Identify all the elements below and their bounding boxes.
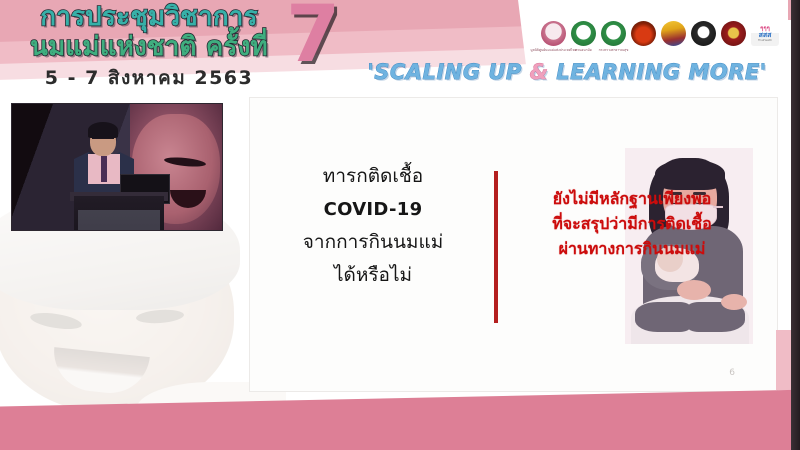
breastfeeding-foundation-logo: มูลนิธิศูนย์นมแม่แห่งประเทศไทย xyxy=(541,21,566,46)
question-line-3: จากการกินนมแม่ xyxy=(264,226,482,259)
edition-number: 7 xyxy=(286,0,340,74)
tagline-ampersand: & xyxy=(530,60,549,84)
pediatric-society-logo xyxy=(691,21,716,46)
answer-text: ยังไม่มีหลักฐานเพียงพอ ที่จะสรุปว่ามีการ… xyxy=(506,186,758,261)
thaihealth-initials: สสส xyxy=(759,32,772,39)
podium-glass-panel xyxy=(78,210,160,231)
answer-line-2: ที่จะสรุปว่ามีการติดเชื้อ xyxy=(506,211,758,236)
slide-number: 6 xyxy=(729,368,735,378)
tagline-prefix: 'SCALING UP xyxy=(367,60,529,84)
answer-line-3: ผ่านทางการกินนมแม่ xyxy=(506,236,758,261)
tagline-suffix: LEARNING MORE' xyxy=(548,60,766,84)
question-line-4: ได้หรือไม่ xyxy=(264,259,482,292)
health-department-logo: กระทรวงสาธารณสุข xyxy=(601,21,626,46)
speaker-hair xyxy=(88,122,118,138)
conference-title-line1: การประชุมวิชาการ xyxy=(40,2,257,32)
vertical-divider xyxy=(494,171,498,323)
royal-college-emblem-logo xyxy=(631,21,656,46)
conference-date: 5 - 7 สิงหาคม 2563 xyxy=(14,63,284,93)
breastfeeding-foundation-caption: มูลนิธิศูนย์นมแม่แห่งประเทศไทย xyxy=(530,48,576,53)
mother-hand xyxy=(677,280,711,300)
health-department-caption: กระทรวงสาธารณสุข xyxy=(599,48,629,53)
mother-foot xyxy=(721,294,747,310)
question-text: ทารกติดเชื้อ COVID-19 จากการกินนมแม่ ได้… xyxy=(264,160,482,292)
baby-photo-watermark xyxy=(0,206,286,406)
ministry-of-public-health-logo: กรมอนามัย xyxy=(571,21,596,46)
conference-header-banner: การประชุมวิชาการ นมแม่แห่งชาติ ครั้งที่ … xyxy=(0,0,791,96)
nursing-council-logo xyxy=(721,21,746,46)
question-line-2: COVID-19 xyxy=(264,193,482,226)
question-line-1: ทารกติดเชื้อ xyxy=(264,160,482,193)
sponsor-logo-row: มูลนิธิศูนย์นมแม่แห่งประเทศไทย กรมอนามัย… xyxy=(541,21,779,46)
window-right-edge xyxy=(791,0,800,450)
slide-content-panel: ทารกติดเชื้อ COVID-19 จากการกินนมแม่ ได้… xyxy=(249,97,778,392)
conference-title: การประชุมวิชาการ นมแม่แห่งชาติ ครั้งที่ xyxy=(14,2,284,62)
presentation-screen: การประชุมวิชาการ นมแม่แห่งชาติ ครั้งที่ … xyxy=(0,0,800,450)
conference-title-line2: นมแม่แห่งชาติ ครั้งที่ xyxy=(14,32,284,62)
speaker-tie xyxy=(101,156,107,182)
mother-left-leg xyxy=(635,302,691,332)
thaihealth-caption: ThaiHealth xyxy=(758,39,772,42)
ministry-caption: กรมอนามัย xyxy=(575,48,591,53)
royal-thai-emblem-logo xyxy=(661,21,686,46)
conference-tagline: 'SCALING UP & LEARNING MORE' xyxy=(352,60,782,84)
thaihealth-sss-logo: ๆๆๆ สสส ThaiHealth xyxy=(751,21,779,46)
answer-line-1: ยังไม่มีหลักฐานเพียงพอ xyxy=(506,186,758,211)
speaker-glasses xyxy=(92,138,114,143)
speaker-video-feed[interactable] xyxy=(11,103,223,231)
